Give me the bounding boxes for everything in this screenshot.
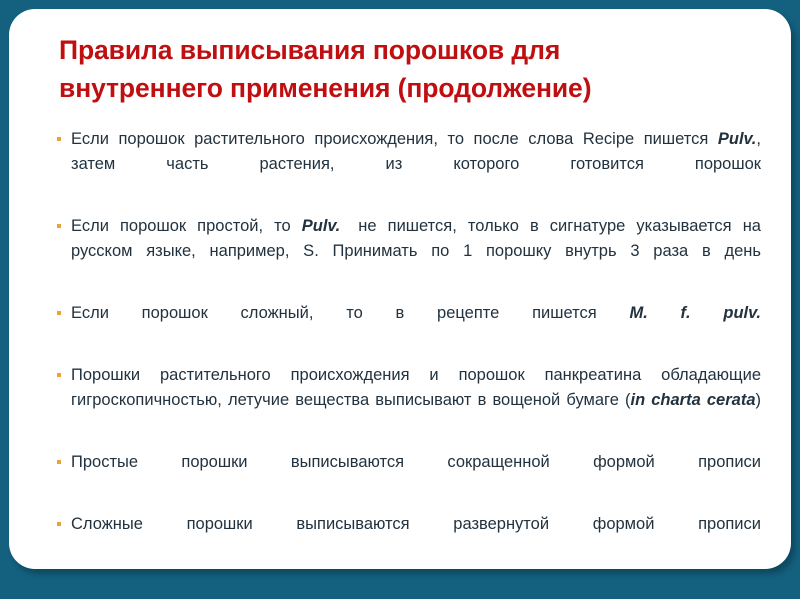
bullet-simple-short-form: Простые порошки выписываются сокращенной… xyxy=(51,450,761,500)
bullet-text: Если порошок растительного происхождения… xyxy=(71,127,761,202)
bullet-square-icon xyxy=(57,311,61,315)
bullet-text: Сложные порошки выписываются развернутой… xyxy=(71,512,761,562)
latin-term: Pulv. xyxy=(718,130,757,148)
latin-term: Pulv. xyxy=(302,217,341,235)
bullet-square-icon xyxy=(57,460,61,464)
bullet-square-icon xyxy=(57,373,61,377)
page-title-line-2: внутреннего применения (продолжение) xyxy=(59,69,719,107)
latin-term: M. f. pulv. xyxy=(629,304,761,322)
bullet-square-icon xyxy=(57,224,61,228)
bullet-simple-powder: Если порошок простой, то Pulv.не пишется… xyxy=(51,214,761,289)
bullet-complex-long-form: Сложные порошки выписываются развернутой… xyxy=(51,512,761,562)
slide-panel: Правила выписывания порошков для внутрен… xyxy=(9,9,791,569)
slide-frame: Правила выписывания порошков для внутрен… xyxy=(0,0,800,599)
bullet-square-icon xyxy=(57,522,61,526)
page-title-line-1: Правила выписывания порошков для xyxy=(59,31,719,69)
page-title: Правила выписывания порошков для внутрен… xyxy=(59,31,719,107)
bullet-square-icon xyxy=(57,137,61,141)
bullet-vegetable-origin: Если порошок растительного происхождения… xyxy=(51,127,761,202)
bullet-text: Простые порошки выписываются сокращенной… xyxy=(71,450,761,500)
bullet-text: Порошки растительного происхождения и по… xyxy=(71,363,761,438)
latin-term: in charta cerata xyxy=(630,391,755,409)
bullet-text: Если порошок сложный, то в рецепте пишет… xyxy=(71,301,761,351)
bullet-complex-powder: Если порошок сложный, то в рецепте пишет… xyxy=(51,301,761,351)
bullet-hygroscopic: Порошки растительного происхождения и по… xyxy=(51,363,761,438)
bullet-list: Если порошок растительного происхождения… xyxy=(51,127,761,569)
bullet-text: Если порошок простой, то Pulv.не пишется… xyxy=(71,214,761,289)
